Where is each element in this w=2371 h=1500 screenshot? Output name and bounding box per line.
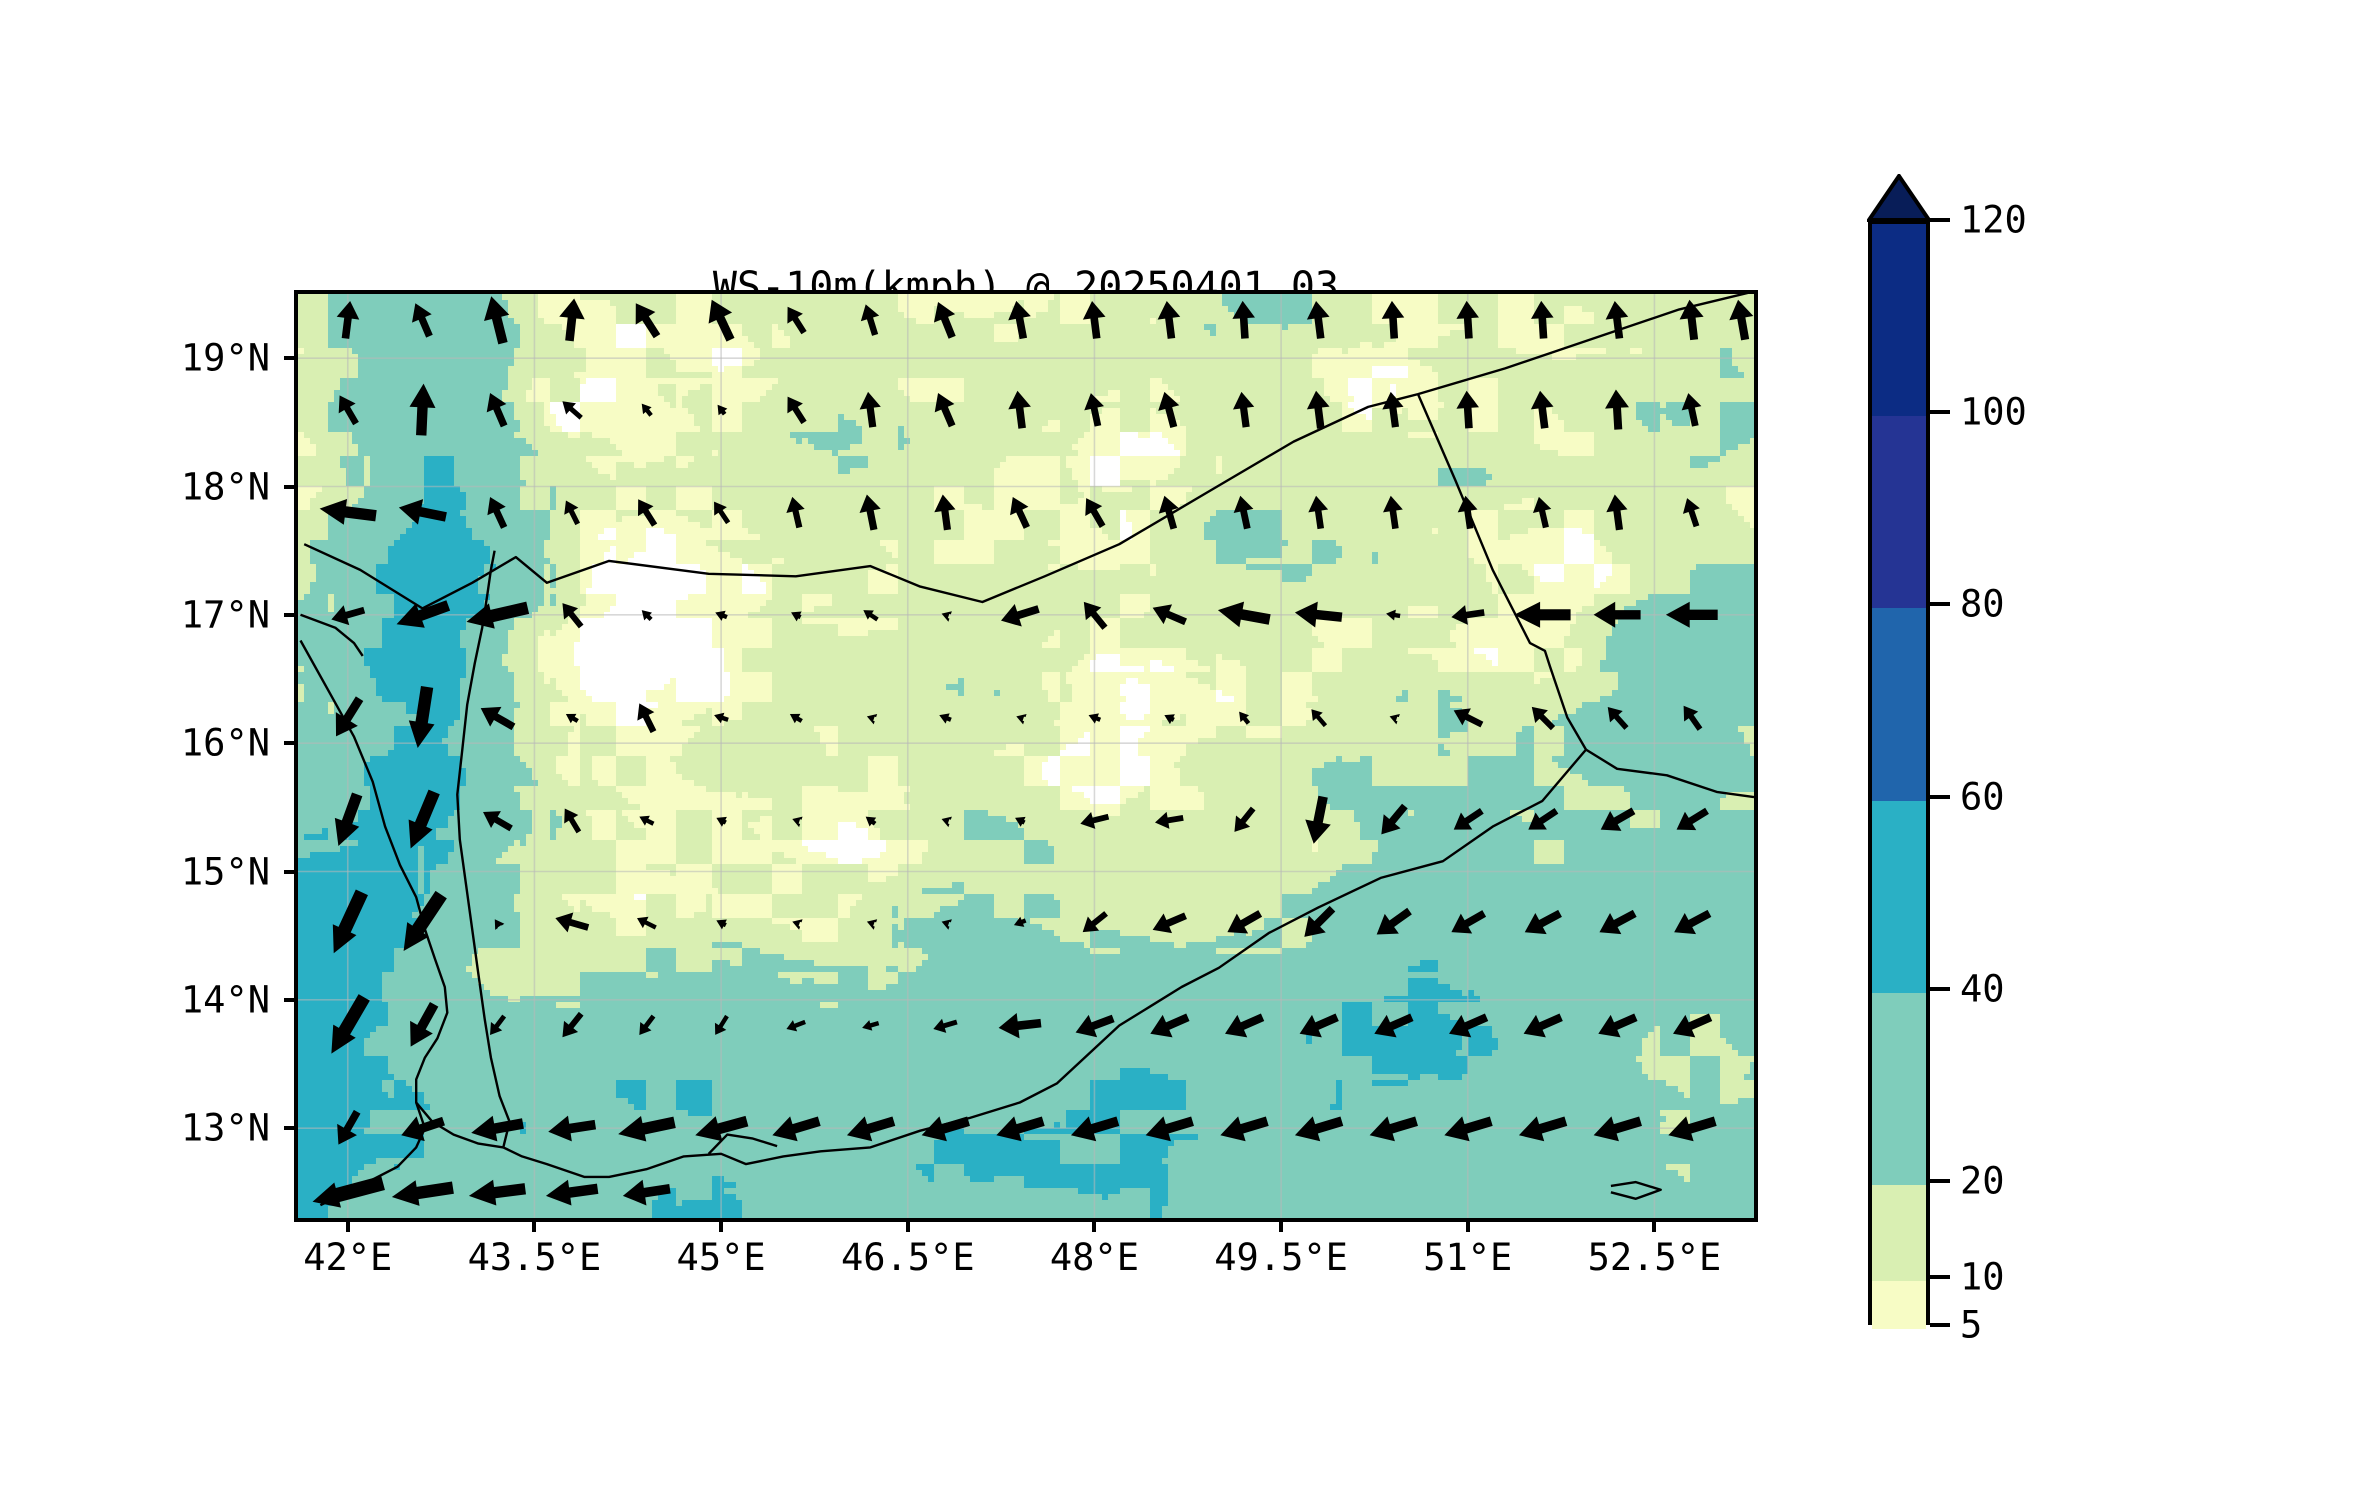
y-tick-mark [284,485,296,489]
colorbar-tick-mark [1930,795,1950,799]
colorbar-tick-mark [1930,987,1950,991]
x-tick-mark [719,1220,723,1232]
colorbar-tick-mark [1930,1323,1950,1327]
y-tick-label: 15°N [80,850,270,893]
x-tick-mark [1466,1220,1470,1232]
colorbar-tick-mark [1930,1179,1950,1183]
x-tick-mark [532,1220,536,1232]
y-tick-label: 16°N [80,722,270,765]
x-tick-label: 51°E [1423,1236,1512,1279]
colorbar-tick-mark [1930,410,1950,414]
y-tick-mark [284,1126,296,1130]
x-tick-label: 42°E [303,1236,392,1279]
colorbar-segment [1872,993,1926,1185]
colorbar-tick-label: 120 [1960,199,2027,242]
x-tick-label: 46.5°E [841,1236,975,1279]
colorbar-segment [1872,1185,1926,1281]
x-tick-mark [346,1220,350,1232]
x-tick-mark [1092,1220,1096,1232]
colorbar-tick-mark [1930,1275,1950,1279]
y-tick-mark [284,998,296,1002]
x-tick-label: 43.5°E [468,1236,602,1279]
y-tick-mark [284,356,296,360]
y-tick-label: 17°N [80,593,270,636]
y-tick-label: 18°N [80,465,270,508]
colorbar-tick-label: 20 [1960,1159,2005,1202]
y-tick-label: 14°N [80,978,270,1021]
x-tick-mark [1279,1220,1283,1232]
colorbar-segment [1872,801,1926,993]
colorbar-tick-label: 60 [1960,775,2005,818]
x-tick-mark [906,1220,910,1232]
y-tick-mark [284,613,296,617]
wind-speed-field [298,294,1754,1218]
colorbar-segment [1872,416,1926,608]
colorbar-tick-label: 5 [1960,1304,1982,1347]
colorbar-segment [1872,1281,1926,1329]
map-canvas [298,294,1754,1218]
map-plot-area[interactable] [294,290,1758,1222]
x-tick-label: 48°E [1050,1236,1139,1279]
y-tick-label: 13°N [80,1107,270,1150]
y-tick-mark [284,741,296,745]
colorbar-tick-mark [1930,602,1950,606]
colorbar-tick-mark [1930,218,1950,222]
colorbar-segment [1872,224,1926,416]
colorbar-segment [1872,608,1926,800]
x-tick-label: 49.5°E [1214,1236,1348,1279]
x-tick-mark [1652,1220,1656,1232]
colorbar-tick-label: 40 [1960,967,2005,1010]
y-tick-mark [284,870,296,874]
colorbar-extend-arrow [1867,174,1931,222]
contour-fill-layer [298,294,1754,1218]
colorbar: 51020406080100120 [1868,175,1930,1325]
x-tick-label: 52.5°E [1588,1236,1722,1279]
colorbar-tick-label: 80 [1960,583,2005,626]
colorbar-tick-label: 100 [1960,391,2027,434]
colorbar-tick-label: 10 [1960,1255,2005,1298]
colorbar-gradient [1868,220,1930,1325]
x-tick-label: 45°E [677,1236,766,1279]
y-tick-label: 19°N [80,337,270,380]
